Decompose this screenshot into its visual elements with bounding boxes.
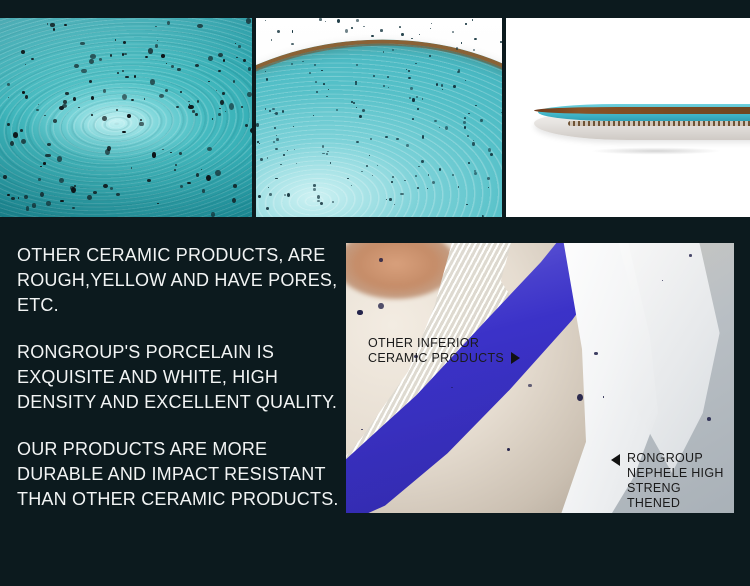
photo-strip (0, 18, 750, 217)
label-other-inferior: OTHER INFERIOR CERAMIC PRODUCTS (368, 321, 520, 381)
copy-paragraph-2: RONGROUP'S PORCELAIN IS EXQUISITE AND WH… (17, 340, 347, 415)
copy-paragraph-1: OTHER CERAMIC PRODUCTS, ARE ROUGH,YELLOW… (17, 243, 347, 318)
triangle-right-icon (511, 352, 520, 364)
label-inferior-text: OTHER INFERIOR CERAMIC PRODUCTS (368, 336, 504, 366)
photo-plate-rim[interactable] (256, 18, 502, 217)
plate-brown-rim (534, 107, 750, 114)
photo-glaze-macro[interactable] (0, 18, 252, 217)
triangle-left-icon (611, 454, 620, 466)
label-rongroup-collection: RONGROUP NEPHELE HIGH STRENG THENED PORC… (611, 436, 734, 513)
label-rongroup-text: RONGROUP NEPHELE HIGH STRENG THENED PORC… (627, 451, 734, 513)
marketing-copy-block: OTHER CERAMIC PRODUCTS, ARE ROUGH,YELLOW… (17, 243, 347, 512)
plate-speckles (256, 18, 502, 217)
copy-paragraph-3: OUR PRODUCTS ARE MORE DURABLE AND IMPACT… (17, 437, 347, 512)
plate-profile (534, 100, 750, 144)
plate-drop-shadow (566, 146, 746, 156)
plate-speckled-edge (568, 121, 750, 126)
product-detail-banner: OTHER CERAMIC PRODUCTS, ARE ROUGH,YELLOW… (0, 0, 750, 586)
photo-cross-section-comparison[interactable]: OTHER INFERIOR CERAMIC PRODUCTS RONGROUP… (346, 243, 734, 513)
glaze-speckles (0, 18, 252, 217)
photo-plate-side[interactable] (506, 18, 750, 217)
